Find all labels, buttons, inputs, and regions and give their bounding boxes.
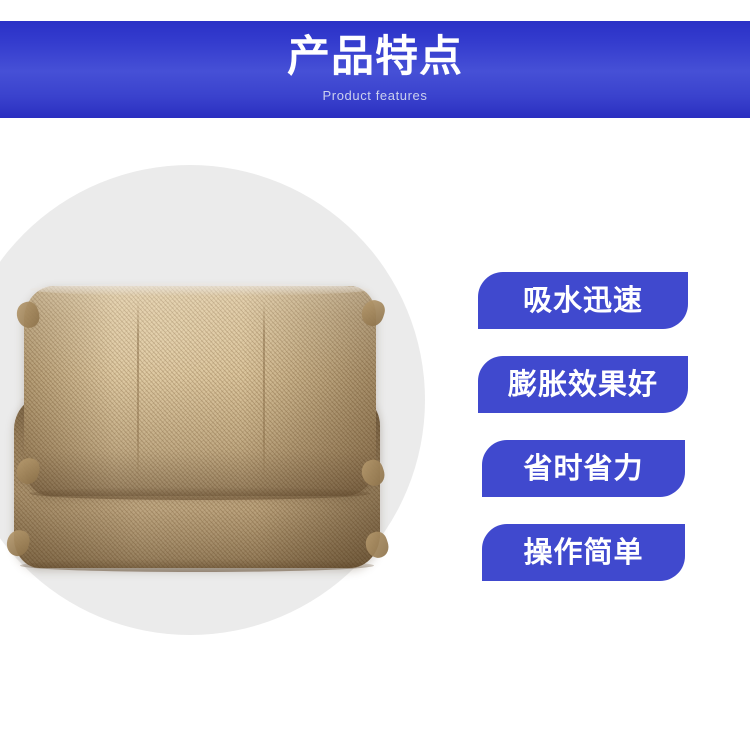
sandbag-top-lip [30, 283, 370, 296]
sandbag-shading [24, 286, 376, 496]
page-header-banner: 产品特点 Product features [0, 21, 750, 118]
sandbag-bottom-lip [30, 487, 370, 500]
feature-pill-simple-operation[interactable]: 操作简单 [482, 524, 685, 581]
feature-label: 操作简单 [523, 537, 643, 569]
sandbag-bottom-lip [20, 559, 374, 572]
page-title: 产品特点 [0, 33, 750, 81]
feature-pill-saves-time-and-effort[interactable]: 省时省力 [482, 440, 685, 497]
feature-pill-absorbs-water-fast[interactable]: 吸水迅速 [478, 272, 688, 329]
sandbag-upper [24, 286, 376, 496]
product-photo-sandbags [8, 278, 386, 578]
page-subtitle: Product features [0, 87, 750, 105]
feature-label: 吸水迅速 [523, 285, 643, 317]
feature-label: 膨胀效果好 [508, 369, 658, 401]
feature-pill-good-expansion[interactable]: 膨胀效果好 [478, 356, 688, 413]
sandbag-seam [263, 300, 265, 480]
feature-list: 吸水迅速 膨胀效果好 省时省力 操作简单 [478, 272, 708, 608]
feature-label: 省时省力 [523, 453, 643, 485]
product-image-stage [0, 118, 460, 748]
sandbag-seam [137, 300, 139, 480]
